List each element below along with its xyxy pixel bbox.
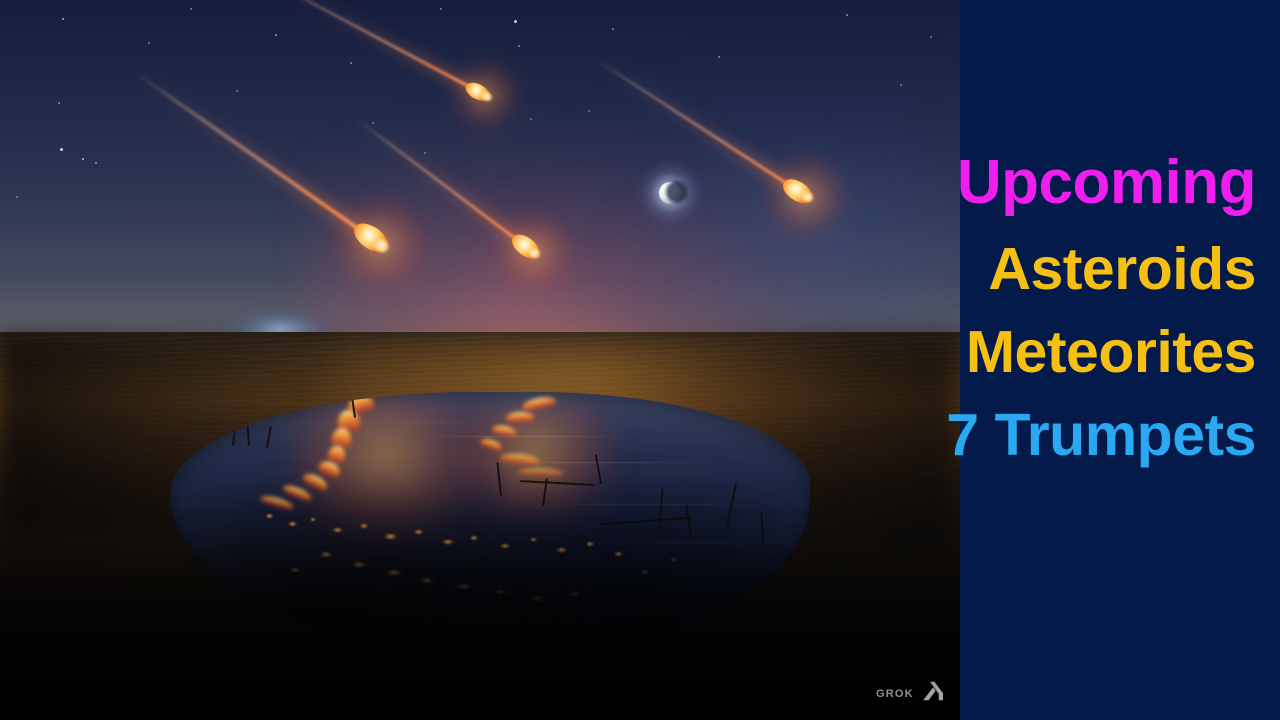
poster-canvas: Upcoming Asteroids Meteorites 7 Trumpets… [0, 0, 1280, 720]
title-block: Upcoming Asteroids Meteorites 7 Trumpets [836, 152, 1256, 465]
title-line-asteroids: Asteroids [836, 240, 1256, 299]
xai-logo-icon [921, 681, 945, 706]
foreground-vignette [0, 540, 960, 720]
watermark-label: GROK [876, 688, 914, 700]
title-line-upcoming: Upcoming [836, 152, 1256, 214]
moon-terminator-shadow [666, 181, 688, 203]
grok-watermark: GROK [876, 681, 945, 706]
background-photograph [0, 0, 960, 720]
title-line-meteorites: Meteorites [836, 323, 1256, 382]
title-line-7-trumpets: 7 Trumpets [836, 406, 1256, 465]
